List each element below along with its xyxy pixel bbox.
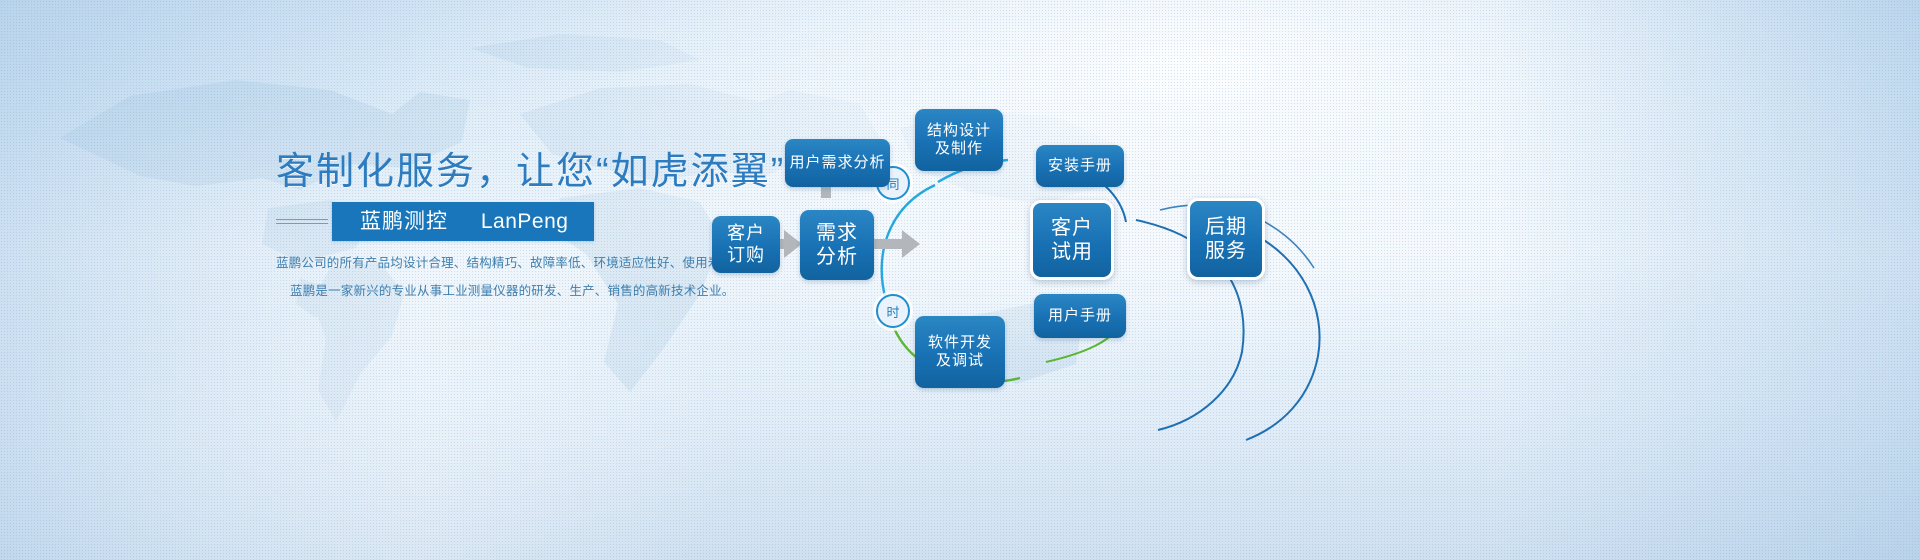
- badge-shi-label: 时: [886, 302, 899, 321]
- brand-bar: 蓝鹏测控 LanPeng: [332, 202, 594, 241]
- description-block: 蓝鹏公司的所有产品均设计合理、结构精巧、故障率低、环境适应性好、使用寿命长。 蓝…: [276, 252, 676, 308]
- node-after-sales-service[interactable]: 后期服务: [1187, 198, 1265, 280]
- node-customer-trial[interactable]: 客户试用: [1030, 200, 1114, 280]
- description-line-2: 蓝鹏是一家新兴的专业从事工业测量仪器的研发、生产、销售的高新技术企业。: [276, 280, 676, 299]
- node-structural-design-label: 结构设计及制作: [927, 122, 991, 159]
- brand-accent-lines: [276, 217, 328, 226]
- banner-stage: 客制化服务，让您“如虎添翼” 蓝鹏测控 LanPeng 蓝鹏公司的所有产品均设计…: [0, 0, 1920, 560]
- node-installation-manual[interactable]: 安装手册: [1036, 145, 1124, 187]
- arrow-analysis-to-loop: [874, 230, 920, 258]
- node-installation-manual-label: 安装手册: [1048, 157, 1112, 175]
- node-user-manual[interactable]: 用户手册: [1034, 294, 1126, 338]
- brand-name-cn: 蓝鹏测控: [360, 210, 448, 233]
- description-line-1: 蓝鹏公司的所有产品均设计合理、结构精巧、故障率低、环境适应性好、使用寿命长。: [276, 252, 676, 271]
- node-requirement-analysis[interactable]: 需求分析: [800, 210, 874, 280]
- node-after-sales-service-label: 后期服务: [1205, 215, 1247, 264]
- process-flow-diagram: 同 时 用户需求分析 客户订购 需求分析 结构设计及制作 软件开发及调试 安装手…: [690, 90, 1920, 490]
- node-user-manual-label: 用户手册: [1048, 307, 1112, 325]
- node-customer-order-label: 客户订购: [727, 223, 765, 267]
- badge-shi: 时: [876, 294, 910, 328]
- node-user-requirement-analysis[interactable]: 用户需求分析: [785, 139, 890, 187]
- brand-row: 蓝鹏测控 LanPeng: [276, 202, 594, 241]
- node-customer-trial-label: 客户试用: [1051, 216, 1093, 265]
- node-customer-order[interactable]: 客户订购: [712, 216, 780, 273]
- node-structural-design[interactable]: 结构设计及制作: [915, 109, 1003, 171]
- node-user-requirement-analysis-label: 用户需求分析: [789, 154, 885, 172]
- node-software-development[interactable]: 软件开发及调试: [915, 316, 1005, 388]
- node-software-development-label: 软件开发及调试: [928, 334, 992, 371]
- brand-name-en: LanPeng: [481, 210, 569, 233]
- node-requirement-analysis-label: 需求分析: [816, 221, 858, 270]
